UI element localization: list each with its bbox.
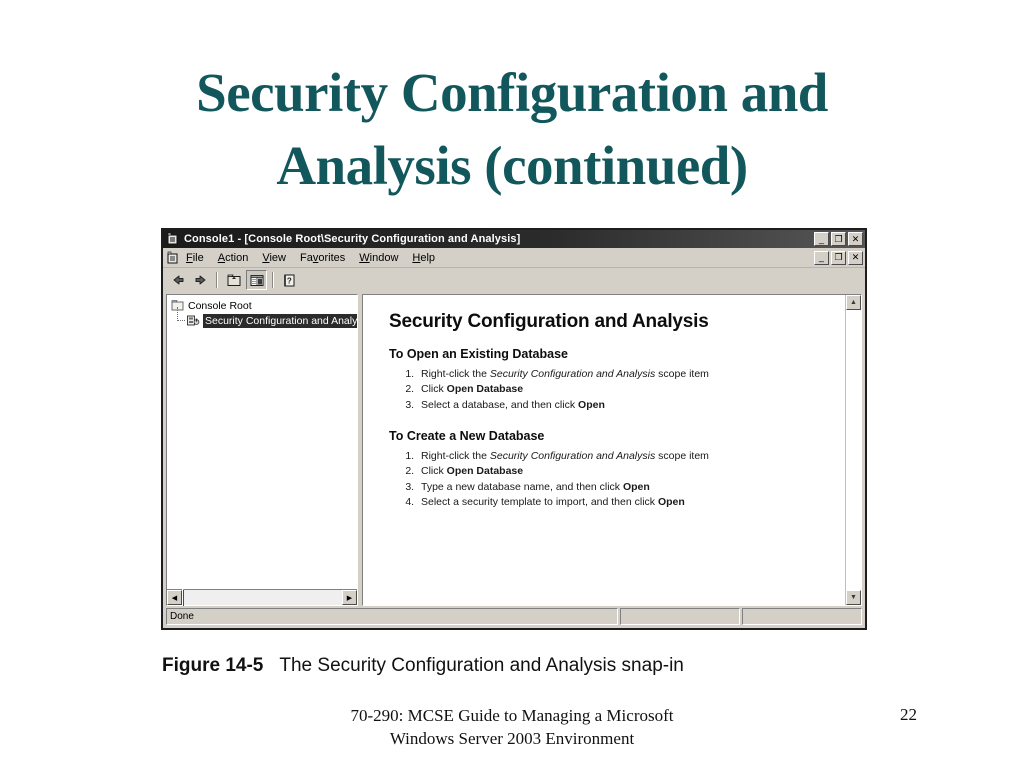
console-tree-pane: Console Root Security Con: [166, 294, 358, 606]
show-hide-console-tree-icon[interactable]: [246, 270, 267, 290]
mdi-child-controls: _ ❐ ✕: [814, 251, 863, 265]
scroll-left-arrow-icon[interactable]: ◀: [167, 590, 182, 605]
window-title-text: Console1 - [Console Root\Security Config…: [184, 233, 814, 245]
section-heading-create-new: To Create a New Database: [389, 429, 833, 443]
help-icon[interactable]: ?: [279, 270, 300, 290]
menu-view[interactable]: View: [262, 252, 286, 264]
scroll-right-arrow-icon[interactable]: ▶: [342, 590, 357, 605]
console-result-pane: Security Configuration and Analysis To O…: [362, 294, 862, 606]
content-heading: Security Configuration and Analysis: [389, 311, 833, 333]
mdi-child-icon[interactable]: [166, 251, 180, 265]
snapin-icon: [186, 314, 200, 327]
scroll-down-arrow-icon[interactable]: ▼: [846, 590, 861, 605]
mmc-console-window: Console1 - [Console Root\Security Config…: [161, 228, 867, 630]
page-title: Security Configuration and Analysis (con…: [60, 56, 964, 202]
list-item: Select a database, and then click Open: [417, 398, 833, 413]
page-number: 22: [900, 705, 940, 725]
section-heading-open-existing: To Open an Existing Database: [389, 347, 833, 361]
child-minimize-button[interactable]: _: [814, 251, 829, 265]
figure-caption-text: The Security Configuration and Analysis …: [279, 655, 684, 676]
status-panel-2: [620, 608, 740, 625]
list-item: Click Open Database: [417, 464, 833, 479]
steps-create-new: Right-click the Security Configuration a…: [389, 449, 833, 510]
scroll-track[interactable]: [182, 590, 342, 605]
figure-number: Figure 14-5: [162, 655, 263, 676]
window-controls: _ ❐ ✕: [814, 232, 863, 246]
tree-item-label: Console Root: [188, 300, 252, 312]
tree-item-label-selected: Security Configuration and Analysis: [203, 314, 357, 328]
up-one-level-icon[interactable]: [223, 270, 244, 290]
status-bar: Done: [163, 606, 865, 628]
toolbar: ?: [163, 268, 865, 292]
minimize-button[interactable]: _: [814, 232, 829, 246]
status-panel-3: [742, 608, 862, 625]
menu-file[interactable]: File: [186, 252, 204, 264]
menu-favorites[interactable]: Favorites: [300, 252, 345, 264]
console-tree: Console Root Security Con: [167, 295, 357, 589]
menu-action[interactable]: Action: [218, 252, 249, 264]
list-item: Type a new database name, and then click…: [417, 480, 833, 495]
close-button[interactable]: ✕: [848, 232, 863, 246]
console-panes: Console Root Security Con: [163, 292, 865, 606]
forward-arrow-icon[interactable]: [190, 270, 211, 290]
console-icon: [166, 232, 180, 246]
slide-footer: 70-290: MCSE Guide to Managing a Microso…: [0, 705, 1024, 751]
menu-item-list: File Action View Favorites Window Help: [186, 252, 814, 264]
content-vertical-scrollbar[interactable]: ▲ ▼: [845, 295, 861, 605]
footer-line-2: Windows Server 2003 Environment: [0, 728, 1024, 751]
page-title-line-1: Security Configuration and: [60, 56, 964, 129]
scroll-track-vertical[interactable]: [846, 310, 861, 590]
child-close-button[interactable]: ✕: [848, 251, 863, 265]
steps-open-existing: Right-click the Security Configuration a…: [389, 367, 833, 413]
tree-item-security-configuration-and-analysis[interactable]: Security Configuration and Analysis: [171, 313, 357, 328]
list-item: Select a security template to import, an…: [417, 495, 833, 510]
list-item: Right-click the Security Configuration a…: [417, 367, 833, 382]
back-arrow-icon[interactable]: [167, 270, 188, 290]
svg-text:?: ?: [286, 277, 291, 286]
menu-help[interactable]: Help: [412, 252, 435, 264]
toolbar-separator-2: [272, 272, 274, 288]
tree-horizontal-scrollbar[interactable]: ◀ ▶: [167, 589, 357, 605]
window-titlebar: Console1 - [Console Root\Security Config…: [163, 230, 865, 248]
footer-line-1: 70-290: MCSE Guide to Managing a Microso…: [0, 705, 1024, 728]
snapin-html-content: Security Configuration and Analysis To O…: [363, 295, 845, 605]
page-title-line-2: Analysis (continued): [60, 129, 964, 202]
child-restore-button[interactable]: ❐: [831, 251, 846, 265]
menu-window[interactable]: Window: [359, 252, 398, 264]
toolbar-separator: [216, 272, 218, 288]
list-item: Click Open Database: [417, 382, 833, 397]
status-message: Done: [166, 608, 618, 625]
maximize-button[interactable]: ❐: [831, 232, 846, 246]
tree-item-console-root[interactable]: Console Root: [171, 298, 357, 313]
figure-caption: Figure 14-5The Security Configuration an…: [162, 655, 902, 677]
figure-image: Console1 - [Console Root\Security Config…: [161, 228, 867, 630]
menu-bar: File Action View Favorites Window Help _…: [163, 248, 865, 268]
scroll-up-arrow-icon[interactable]: ▲: [846, 295, 861, 310]
list-item: Right-click the Security Configuration a…: [417, 449, 833, 464]
